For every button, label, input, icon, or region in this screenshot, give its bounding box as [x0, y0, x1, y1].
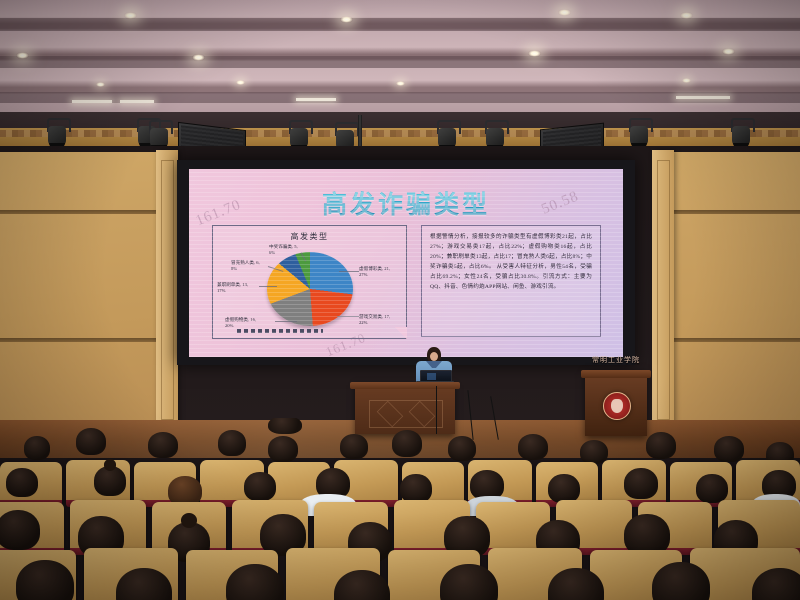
pie-label-shuRen: 冒充熟人类, 6, 8%: [231, 260, 260, 271]
projected-slide: 161.70 50.58 161.70 高发诈骗类型 高发类型 虚假博彩类, 2…: [189, 169, 623, 357]
audience-head: [696, 474, 728, 503]
ceiling-downlight: [340, 16, 353, 23]
audience-head: [646, 432, 676, 459]
pie-leader-line: [275, 321, 297, 322]
audience-head: [400, 474, 432, 503]
audience-head: [580, 440, 608, 464]
projection-screen-frame: 161.70 50.58 161.70 高发诈骗类型 高发类型 虚假博彩类, 2…: [177, 160, 635, 365]
pie-leader-line: [337, 316, 359, 317]
pie-label-gouWu: 虚假购物类, 16, 20%: [225, 317, 256, 328]
stage-par-light: [46, 118, 68, 148]
pie-chart: [267, 252, 353, 326]
stage-par-light: [730, 118, 752, 148]
auditorium-photo: EPSON 161.70 50.58 161.70 高发诈骗类型 高发类型: [0, 0, 800, 600]
audience-head: [218, 430, 246, 456]
wood-wall-panel-left: [0, 152, 178, 424]
ceiling-downlight: [96, 82, 105, 87]
slide-title: 高发诈骗类型: [189, 185, 623, 221]
audience-head: [714, 436, 744, 462]
audience-area: [0, 418, 800, 600]
audience-head: [340, 434, 368, 459]
analysis-text-body: 根据警情分析，接报较多的诈骗类型有虚假博彩类21起，占比27%；游戏交易类17起…: [430, 233, 592, 293]
audience-head: [518, 434, 548, 460]
pie-label-shuaDan: 兼职刷单类, 13, 17%: [217, 282, 248, 293]
ceiling-downlight: [682, 78, 691, 83]
audience-head: [548, 474, 580, 503]
school-name-label: 常明工业学院: [585, 355, 647, 365]
presenter-face: [430, 352, 438, 361]
audience-head: [16, 560, 74, 600]
ceiling-downlight: [396, 81, 405, 86]
audience-head: [6, 468, 38, 497]
ceiling-downlight: [124, 12, 137, 19]
audience-head: [76, 428, 106, 455]
led-strip-light: [72, 100, 112, 103]
audience-head: [24, 436, 50, 460]
audience-head: [624, 468, 658, 499]
analysis-text-card: 根据警情分析，接报较多的诈骗类型有虚假博彩类21起，占比27%；游戏交易类17起…: [421, 225, 601, 337]
chart-card: 高发类型 虚假博彩类, 21, 27% 游戏交易类, 17, 22% 虚假购物类…: [212, 225, 407, 339]
wall-pilaster-left: [156, 150, 178, 428]
wall-pilaster-right: [652, 150, 674, 428]
audience-head: [448, 436, 476, 461]
pie-leader-line: [339, 271, 359, 272]
wood-wall-panel-right: [652, 152, 800, 424]
audience-head: [244, 472, 276, 501]
ceiling-downlight: [680, 12, 693, 19]
school-emblem-icon: [603, 392, 631, 420]
led-strip-light: [676, 96, 730, 99]
chart-legend-strip: [237, 329, 323, 333]
audience-head: [148, 432, 178, 458]
pie-leader-line: [259, 286, 277, 287]
ceiling-downlight: [558, 9, 571, 16]
audience-head: [94, 466, 126, 496]
ceiling-downlight: [16, 52, 29, 59]
pie-label-boCai: 虚假博彩类, 21, 27%: [359, 266, 390, 277]
stage-par-light: [628, 118, 650, 148]
audience-head: [268, 436, 298, 462]
led-strip-light: [120, 100, 154, 103]
pie-label-zhongJiang: 中奖诈骗类, 5, 6%: [269, 244, 298, 255]
decorative-frieze: [0, 128, 800, 146]
audience-head: [0, 510, 40, 550]
audience-head: [392, 430, 422, 457]
pie-label-youXi: 游戏交易类, 17, 22%: [359, 314, 390, 325]
ceiling-downlight: [192, 54, 205, 61]
led-strip-light: [296, 98, 336, 101]
ceiling-downlight: [722, 48, 735, 55]
chart-title: 高发类型: [213, 231, 406, 242]
ceiling-downlight: [528, 50, 541, 57]
ceiling-downlight: [236, 80, 245, 85]
audience-head: [268, 418, 302, 434]
pie-chart-graphic: [267, 252, 353, 326]
